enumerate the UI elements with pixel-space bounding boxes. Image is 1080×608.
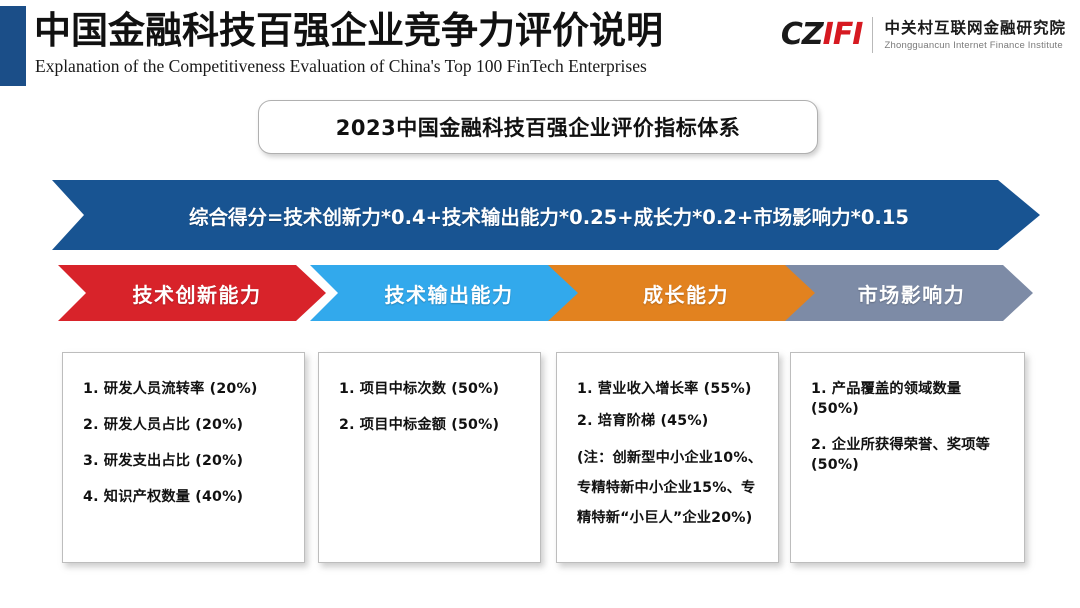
header-accent-bar [0,6,26,86]
detail-item: 4. 知识产权数量 (40%) [83,487,292,507]
composite-score-formula-banner: 综合得分=技术创新力*0.4+技术输出能力*0.25+成长力*0.2+市场影响力… [52,180,1040,250]
page-subtitle: Explanation of the Competitiveness Evalu… [35,56,647,77]
dimension-label: 市场影响力 [848,279,966,308]
detail-item: 1. 项目中标次数 (50%) [339,379,528,399]
czifi-logo: CZIFI 中关村互联网金融研究院 Zhongguancun Internet … [781,12,1066,58]
detail-item: 2. 企业所获得荣誉、奖项等 (50%) [811,435,1012,475]
dimension-label: 技术输出能力 [375,279,514,308]
detail-note: (注：创新型中小企业10%、专精特新中小企业15%、专精特新“小巨人”企业20%… [577,443,766,533]
detail-item: 2. 培育阶梯 (45%) [577,411,766,431]
detail-item: 1. 产品覆盖的领域数量 (50%) [811,379,1012,419]
logo-mark-ifi: IFI [823,20,863,50]
dimension-chevron-3[interactable]: 成长能力 [547,265,815,321]
czifi-logo-mark: CZIFI [781,20,863,50]
detail-box-3: 1. 营业收入增长率 (55%)2. 培育阶梯 (45%)(注：创新型中小企业1… [556,352,779,563]
detail-box-1: 1. 研发人员流转率 (20%)2. 研发人员占比 (20%)3. 研发支出占比… [62,352,305,563]
composite-score-formula-text: 综合得分=技术创新力*0.4+技术输出能力*0.25+成长力*0.2+市场影响力… [183,201,909,230]
dimension-chevron-2[interactable]: 技术输出能力 [310,265,578,321]
detail-box-4: 1. 产品覆盖的领域数量 (50%)2. 企业所获得荣誉、奖项等 (50%) [790,352,1025,563]
dimension-label: 技术创新能力 [123,279,262,308]
logo-institute-name-en: Zhongguancun Internet Finance Institute [884,39,1066,52]
detail-item: 1. 营业收入增长率 (55%) [577,379,766,399]
dimension-chevron-row: 技术创新能力技术输出能力成长能力市场影响力 [58,265,1033,321]
logo-mark-cz: CZ [781,20,823,50]
detail-item: 3. 研发支出占比 (20%) [83,451,292,471]
detail-item: 1. 研发人员流转率 (20%) [83,379,292,399]
indicator-system-title-box: 2023中国金融科技百强企业评价指标体系 [258,100,818,154]
logo-institute-name-zh: 中关村互联网金融研究院 [884,19,1066,37]
dimension-chevron-4[interactable]: 市场影响力 [780,265,1033,321]
indicator-system-title: 2023中国金融科技百强企业评价指标体系 [336,112,740,142]
detail-item: 2. 项目中标金额 (50%) [339,415,528,435]
logo-text-block: 中关村互联网金融研究院 Zhongguancun Internet Financ… [884,19,1066,52]
detail-box-2: 1. 项目中标次数 (50%)2. 项目中标金额 (50%) [318,352,541,563]
page-title: 中国金融科技百强企业竞争力评价说明 [34,8,663,52]
dimension-label: 成长能力 [633,279,729,308]
detail-item: 2. 研发人员占比 (20%) [83,415,292,435]
dimension-chevron-1[interactable]: 技术创新能力 [58,265,326,321]
page-header: 中国金融科技百强企业竞争力评价说明 Explanation of the Com… [0,0,1080,92]
logo-divider [872,17,873,53]
